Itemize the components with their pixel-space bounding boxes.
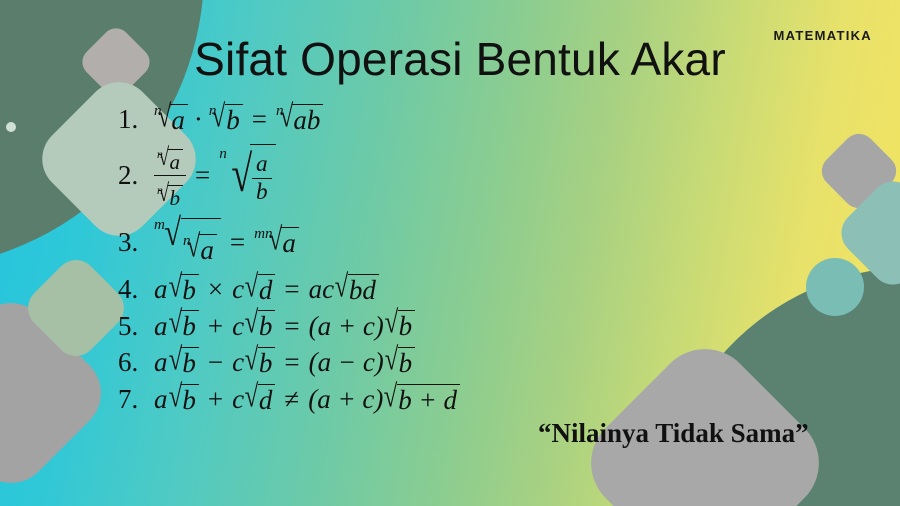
inner-fraction: a b [252, 152, 272, 204]
operator-equals: = [284, 274, 299, 305]
formula-row: 5. a √ b + c √ b = (a + c) √ b [118, 310, 878, 342]
formula-row: 4. a √ b × c √ d = ac √ bd [118, 274, 878, 306]
dot-shape-left [6, 122, 16, 132]
note-text: “Nilainya Tidak Sama” [538, 418, 809, 449]
formula-row: 6. a √ b − c √ b = (a − c) √ b [118, 347, 878, 379]
radical-sign-icon: √ [384, 305, 398, 342]
radical-group: √ b [168, 310, 199, 342]
coefficient: a [154, 347, 168, 378]
coefficient: c [232, 384, 244, 415]
radicand: a b [250, 144, 276, 206]
operator-plus: + [208, 384, 223, 415]
radical-group: n √ ab [276, 104, 323, 136]
formula-row: 3. m √ n √ a = mn √ [118, 218, 878, 267]
operator-minus: − [208, 347, 223, 378]
formula-expression-6: a √ b − c √ b = (a − c) √ b [154, 347, 415, 379]
radical-index: n [157, 184, 163, 196]
formula-number: 4. [118, 274, 154, 305]
formula-number: 5. [118, 311, 154, 342]
operator-dot: · [194, 104, 203, 135]
radical-group: √ b [244, 347, 275, 379]
radicand: b [181, 310, 199, 342]
radicand: b [398, 347, 416, 379]
radicand: ab [292, 104, 323, 136]
radical-index: mn [254, 226, 272, 243]
radical-sign-icon: √ [164, 218, 181, 249]
radical-group: √ b [168, 347, 199, 379]
formula-expression-2: n √ a n √ b = n [154, 141, 276, 210]
operator-plus: + [208, 311, 223, 342]
coefficient: ac [309, 274, 334, 305]
formula-expression-1: n √ a · n √ b = n √ ab [154, 104, 323, 136]
fraction-denominator: n √ b [154, 175, 186, 210]
radical-sign-icon: √ [335, 268, 349, 305]
radicand: a [199, 234, 217, 266]
radicand: a [168, 149, 183, 174]
grouped-coefficients: (a − c) [309, 347, 384, 378]
radical-group-outer: m √ n √ a [154, 218, 221, 267]
radical-sign-icon: √ [168, 268, 182, 305]
operator-not-equals: ≠ [284, 384, 299, 415]
formula-list: 1. n √ a · n √ b = n √ ab [118, 104, 878, 420]
formula-row: 1. n √ a · n √ b = n √ ab [118, 104, 878, 136]
formula-number: 2. [118, 160, 154, 191]
radical-group: n √ b [157, 185, 183, 210]
radical-index: m [154, 217, 165, 234]
radical-group: n √ a [157, 149, 183, 174]
radical-group: n √ b [209, 104, 243, 136]
radical-sign-icon: √ [384, 378, 398, 415]
coefficient: c [232, 347, 244, 378]
grouped-coefficients: (a + c) [309, 311, 384, 342]
formula-number: 1. [118, 104, 154, 135]
radical-group: √ d [244, 384, 275, 416]
radical-group: √ b [244, 310, 275, 342]
radical-sign-icon: √ [245, 305, 259, 342]
fraction-denominator: b [252, 178, 272, 204]
slide-root: MATEMATIKA Sifat Operasi Bentuk Akar 1. … [0, 0, 900, 506]
operator-equals: = [230, 227, 245, 258]
radical-group: √ b [168, 274, 199, 306]
radicand: b [258, 347, 276, 379]
radicand: b [225, 104, 243, 136]
radicand: n √ a [181, 218, 221, 267]
coefficient: c [232, 311, 244, 342]
radical-group: √ b [384, 310, 415, 342]
operator-times: × [208, 274, 223, 305]
radical-group: mn √ a [254, 227, 299, 259]
radicand: a [170, 104, 188, 136]
formula-number: 3. [118, 227, 154, 258]
radicand: a [281, 227, 299, 259]
radical-group-inner: n √ a [183, 234, 217, 266]
radical-group: √ bd [334, 274, 379, 306]
radicand: d [258, 384, 276, 416]
coefficient: a [154, 384, 168, 415]
radical-index: n [157, 148, 163, 160]
grouped-coefficients: (a + c) [308, 384, 383, 415]
radical-group: √ b + d [383, 384, 460, 416]
radical-index: n [154, 103, 162, 120]
radicand: b [181, 347, 199, 379]
radical-index: n [183, 233, 191, 250]
radical-group: n √ a [154, 104, 188, 136]
coefficient: c [232, 274, 244, 305]
formula-row: 2. n √ a n √ b [118, 141, 878, 210]
radical-group-tall: n √ a b [219, 144, 275, 206]
radical-sign-icon: √ [384, 341, 398, 378]
radical-index: n [209, 103, 217, 120]
formula-expression-3: m √ n √ a = mn √ a [154, 218, 299, 267]
radicand: d [258, 274, 276, 306]
operator-equals: = [195, 160, 210, 191]
radical-sign-icon: √ [168, 305, 182, 342]
fraction-numerator: n √ a [154, 141, 186, 175]
radicand: b [181, 384, 199, 416]
radicand: b [181, 274, 199, 306]
radical-group: √ d [244, 274, 275, 306]
radical-sign-icon: √ [231, 157, 252, 194]
fraction-numerator: a [252, 152, 272, 177]
operator-equals: = [252, 104, 267, 135]
radical-sign-icon: √ [245, 378, 259, 415]
radical-sign-icon: √ [245, 341, 259, 378]
formula-expression-4: a √ b × c √ d = ac √ bd [154, 274, 379, 306]
radical-group: √ b [168, 384, 199, 416]
formula-expression-7: a √ b + c √ d ≠ (a + c) √ b + d [154, 384, 460, 416]
formula-expression-5: a √ b + c √ b = (a + c) √ b [154, 310, 415, 342]
radicand: bd [348, 274, 379, 306]
formula-row: 7. a √ b + c √ d ≠ (a + c) √ b + d [118, 384, 878, 416]
formula-number: 6. [118, 347, 154, 378]
radical-index: n [276, 103, 284, 120]
radicand: b [168, 185, 183, 210]
page-title: Sifat Operasi Bentuk Akar [0, 32, 900, 86]
formula-number: 7. [118, 384, 154, 415]
radical-sign-icon: √ [245, 268, 259, 305]
operator-equals: = [284, 347, 299, 378]
radicand: b [258, 310, 276, 342]
radicand: b [398, 310, 416, 342]
coefficient: a [154, 274, 168, 305]
radical-index: n [219, 146, 227, 163]
operator-equals: = [284, 311, 299, 342]
radical-group: √ b [384, 347, 415, 379]
fraction-of-radicals: n √ a n √ b [154, 141, 186, 210]
radicand: b + d [397, 384, 460, 416]
radical-sign-icon: √ [168, 341, 182, 378]
coefficient: a [154, 311, 168, 342]
radical-sign-icon: √ [168, 378, 182, 415]
